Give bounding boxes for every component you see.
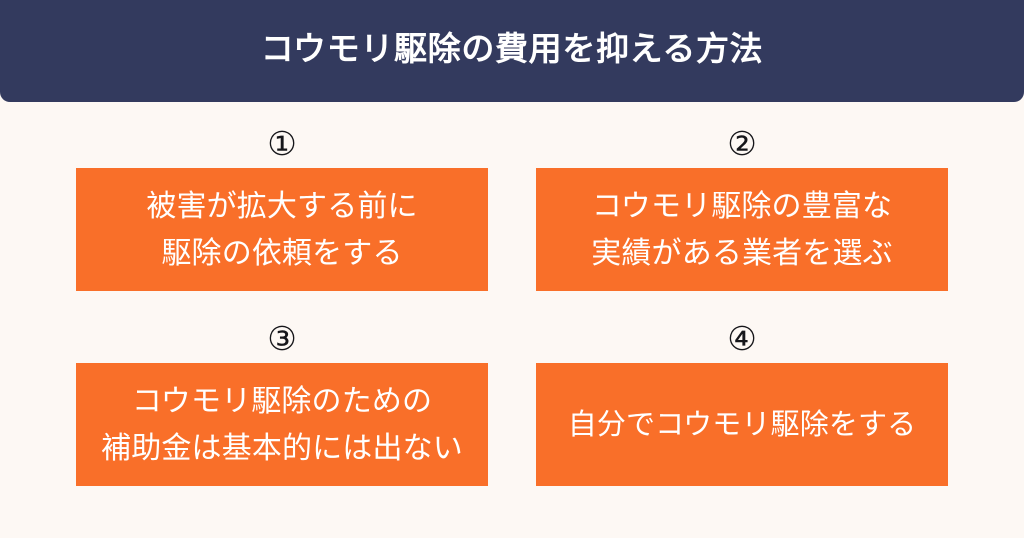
circled-number-4-icon: ④ (727, 315, 757, 363)
item-1-box[interactable]: 被害が拡大する前に 駆除の依頼をする (76, 168, 488, 291)
item-2-label: コウモリ駆除の豊富な 実績がある業者を選ぶ (591, 183, 893, 277)
item-3: ③ コウモリ駆除のための 補助金は基本的には出ない (76, 315, 488, 486)
page-title: コウモリ駆除の費用を抑える方法 (261, 31, 764, 67)
items-grid: ① 被害が拡大する前に 駆除の依頼をする ② コウモリ駆除の豊富な 実績がある業… (76, 120, 948, 486)
item-2-box[interactable]: コウモリ駆除の豊富な 実績がある業者を選ぶ (536, 168, 948, 291)
item-3-box[interactable]: コウモリ駆除のための 補助金は基本的には出ない (76, 363, 488, 486)
item-1: ① 被害が拡大する前に 駆除の依頼をする (76, 120, 488, 291)
item-4: ④ 自分でコウモリ駆除をする (536, 315, 948, 486)
item-2: ② コウモリ駆除の豊富な 実績がある業者を選ぶ (536, 120, 948, 291)
circled-number-2-icon: ② (727, 120, 757, 168)
item-3-label: コウモリ駆除のための 補助金は基本的には出ない (101, 378, 463, 472)
circled-number-1-icon: ① (267, 120, 297, 168)
item-1-label: 被害が拡大する前に 駆除の依頼をする (146, 183, 417, 277)
item-4-box[interactable]: 自分でコウモリ駆除をする (536, 363, 948, 486)
circled-number-3-icon: ③ (267, 315, 297, 363)
item-4-label: 自分でコウモリ駆除をする (568, 404, 917, 446)
infographic-canvas: コウモリ駆除の費用を抑える方法 ① 被害が拡大する前に 駆除の依頼をする ② コ… (0, 0, 1024, 538)
header-bar: コウモリ駆除の費用を抑える方法 (0, 0, 1024, 102)
